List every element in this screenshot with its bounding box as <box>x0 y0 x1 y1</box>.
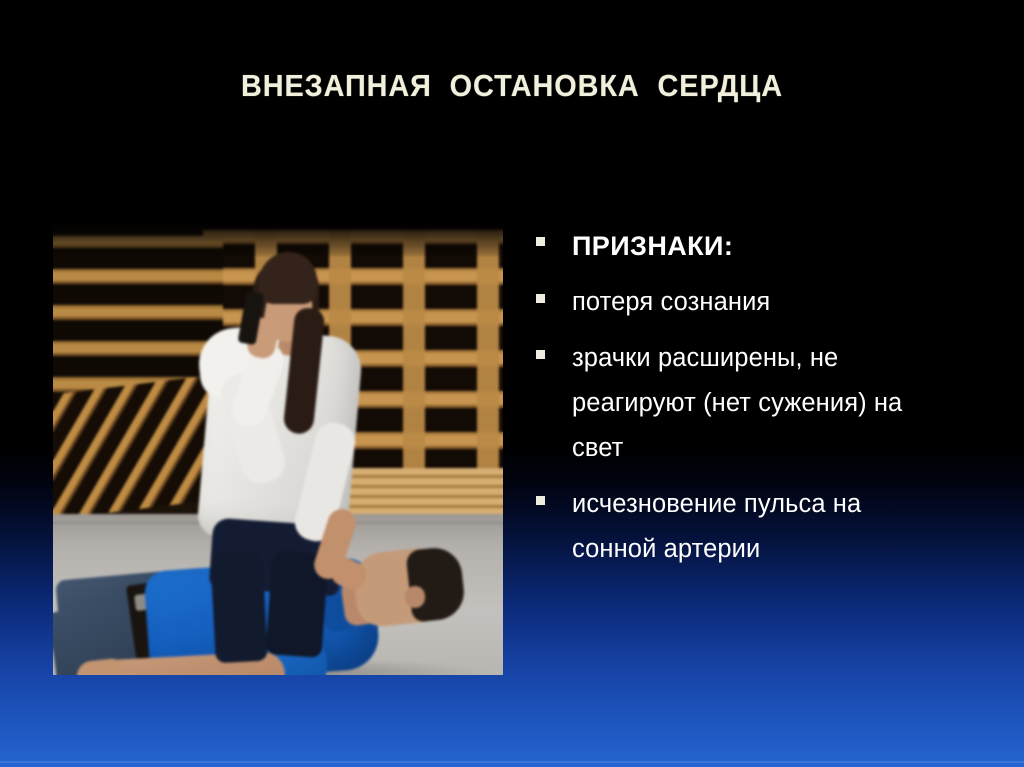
bullet-square-icon <box>536 496 545 505</box>
list-item: зрачки расширены, не реагируют (нет суже… <box>536 336 986 471</box>
woman-leg-left <box>210 551 268 664</box>
bullet-square-icon <box>536 350 545 359</box>
background-bottom-accent-line <box>0 761 1024 763</box>
photo-top-shadow <box>53 222 503 256</box>
list-item: ПРИЗНАКИ: <box>536 224 986 269</box>
slide-canvas: ВНЕЗАПНАЯ ОСТАНОВКА СЕРДЦА <box>0 0 1024 767</box>
bullet-square-icon <box>536 294 545 303</box>
bullet-label: потеря сознания <box>572 280 770 325</box>
slide-photo <box>53 222 503 675</box>
bullet-list: ПРИЗНАКИ: потеря сознания зрачки расшире… <box>536 224 986 583</box>
woman-hair-top <box>259 252 317 304</box>
bullet-label: исчезновение пульса на сонной артерии <box>572 482 944 572</box>
bullet-label: ПРИЗНАКИ: <box>572 224 733 269</box>
bullet-square-icon <box>536 237 545 246</box>
list-item: исчезновение пульса на сонной артерии <box>536 482 986 572</box>
slide-title: ВНЕЗАПНАЯ ОСТАНОВКА СЕРДЦА <box>36 68 988 104</box>
list-item: потеря сознания <box>536 280 986 325</box>
bullet-label: зрачки расширены, не реагируют (нет суже… <box>572 336 944 471</box>
man-ear <box>405 586 425 608</box>
